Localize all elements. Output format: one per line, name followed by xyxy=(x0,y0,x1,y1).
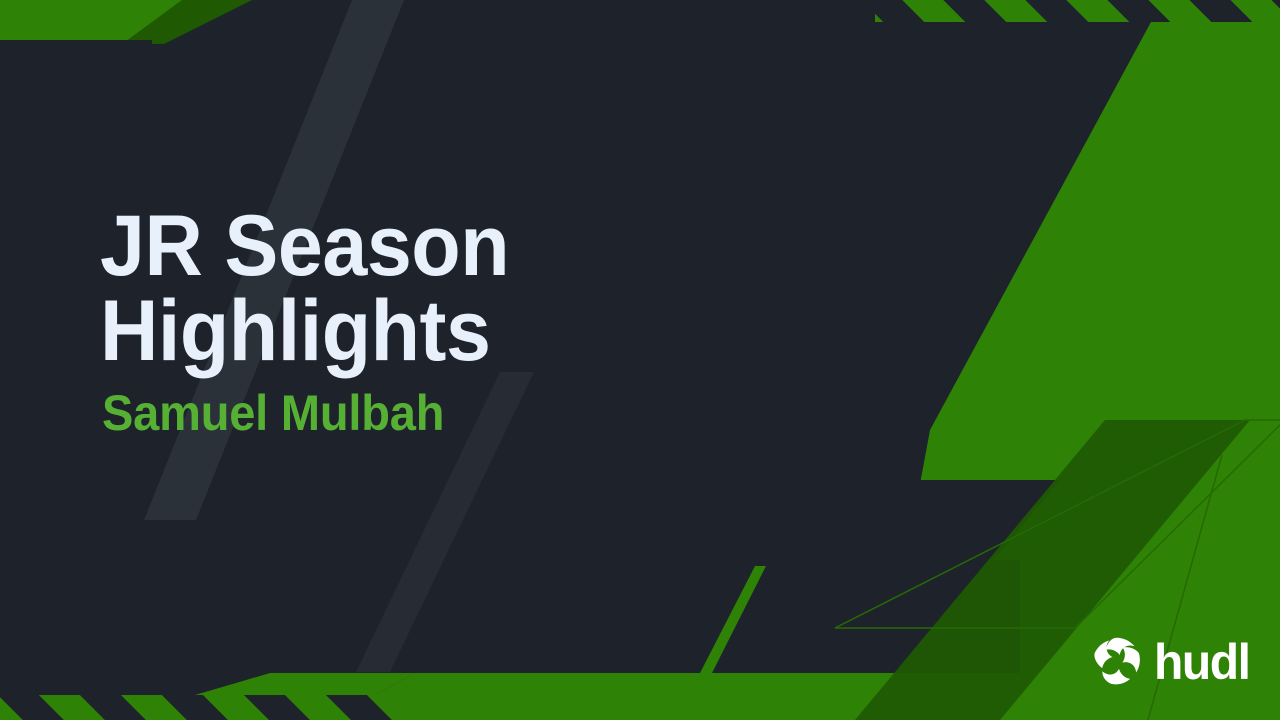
title-block: JR Season Highlights Samuel Mulbah xyxy=(100,204,740,438)
hudl-swirl-icon xyxy=(1088,636,1146,692)
highlight-title-card: JR Season Highlights Samuel Mulbah hudl xyxy=(0,0,1280,720)
page-title: JR Season Highlights xyxy=(100,204,702,374)
headline-line-2: Highlights xyxy=(100,289,702,374)
hudl-logo: hudl xyxy=(1088,634,1252,694)
right-green-wedge-step xyxy=(1128,22,1280,60)
athlete-name: Samuel Mulbah xyxy=(102,388,702,438)
headline-line-1: JR Season xyxy=(100,204,702,289)
hudl-wordmark: hudl xyxy=(1154,637,1250,687)
